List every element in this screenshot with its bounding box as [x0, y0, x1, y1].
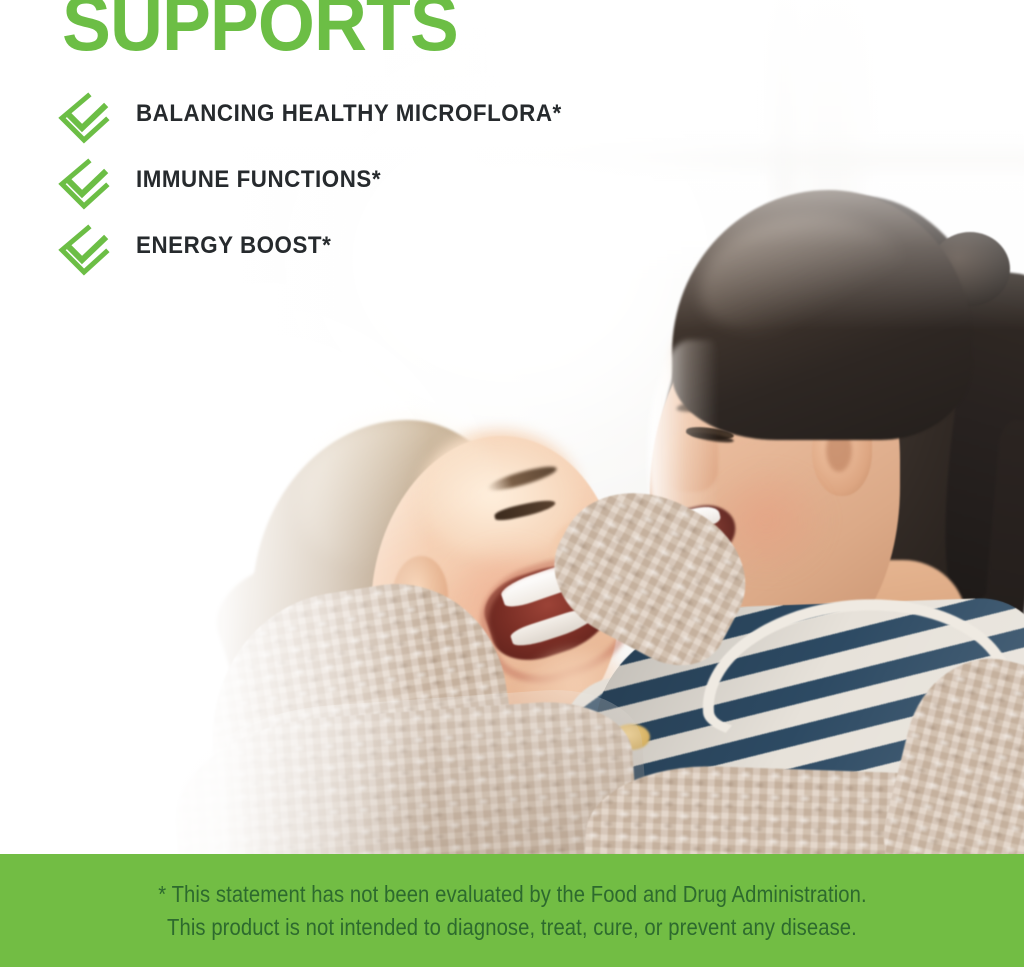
benefit-label: BALANCING HEALTHY MICROFLORA* [136, 100, 562, 128]
benefit-label: IMMUNE FUNCTIONS* [136, 166, 381, 194]
check-diamond-icon [58, 92, 110, 144]
disclaimer-line-2: This product is not intended to diagnose… [167, 911, 857, 944]
product-feature-panel: SUPPORTS BALANCING HEALTHY MICROFLORA* I… [0, 0, 1024, 967]
benefit-item-energy: ENERGY BOOST* [58, 224, 818, 290]
benefit-item-microflora: BALANCING HEALTHY MICROFLORA* [58, 92, 818, 158]
disclaimer-banner: * This statement has not been evaluated … [0, 854, 1024, 967]
benefit-item-immune: IMMUNE FUNCTIONS* [58, 158, 818, 224]
disclaimer-line-1: * This statement has not been evaluated … [158, 878, 866, 911]
page-title: SUPPORTS [62, 0, 458, 62]
check-diamond-icon [58, 158, 110, 210]
check-diamond-icon [58, 224, 110, 276]
benefit-label: ENERGY BOOST* [136, 232, 331, 260]
benefits-list: BALANCING HEALTHY MICROFLORA* IMMUNE FUN… [58, 92, 818, 290]
